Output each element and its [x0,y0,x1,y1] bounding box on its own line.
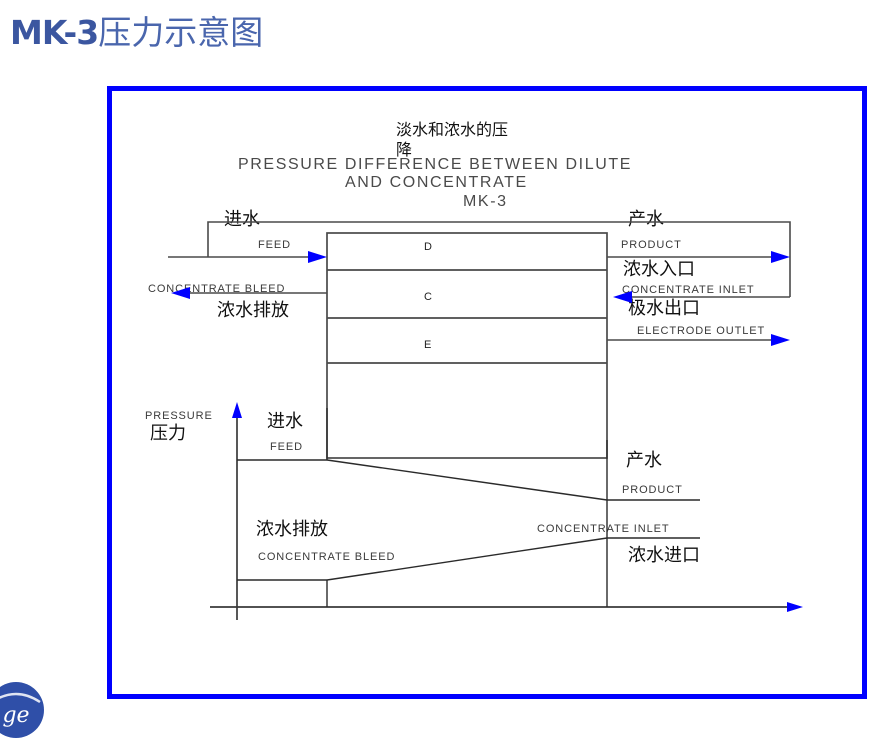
stack-row-label-d: D [424,242,433,253]
company-logo-icon: ge [0,678,48,742]
graph-label-feed-cn: 进水 [267,413,303,431]
flow-label-electrode-en: ELECTRODE OUTLET [637,326,765,337]
flow-label-conc-inlet-cn: 浓水入口 [623,261,695,279]
y-axis-label-en: PRESSURE [145,411,213,422]
heading-english-line1: PRESSURE DIFFERENCE BETWEEN DILUTE [238,157,632,173]
page-title-cn: 压力示意图 [98,13,263,52]
graph-label-product-cn: 产水 [626,452,662,470]
page-title-mk: MK-3 [10,13,98,52]
flow-label-product-en: PRODUCT [621,240,682,251]
flow-label-bleed-en: CONCENTRATE BLEED [148,284,285,295]
graph-label-bleed-en: CONCENTRATE BLEED [258,552,395,563]
graph-label-conc-inlet-en: CONCENTRATE INLET [537,524,669,535]
graph-label-product-en: PRODUCT [622,485,683,496]
flow-label-product-cn: 产水 [628,211,664,229]
y-axis-label-cn: 压力 [150,425,186,443]
heading-english-line2: AND CONCENTRATE [345,175,528,191]
flow-label-feed-en: FEED [258,240,291,251]
stack-row-label-e: E [424,340,432,351]
page-title: MK-3压力示意图 [10,6,263,54]
stack-row-label-c: C [424,292,433,303]
svg-text:ge: ge [2,703,29,728]
graph-label-conc-inlet-cn: 浓水进口 [628,547,700,565]
graph-label-bleed-cn: 浓水排放 [256,521,328,539]
flow-label-bleed-cn: 浓水排放 [217,302,289,320]
heading-model-label: MK-3 [463,194,508,210]
flow-label-electrode-cn: 极水出口 [628,300,700,318]
graph-label-feed-en: FEED [270,442,303,453]
heading-chinese-line1: 淡水和浓水的压 [396,122,508,138]
flow-label-feed-cn: 进水 [224,211,260,229]
flow-label-conc-inlet-en: CONCENTRATE INLET [622,285,754,296]
